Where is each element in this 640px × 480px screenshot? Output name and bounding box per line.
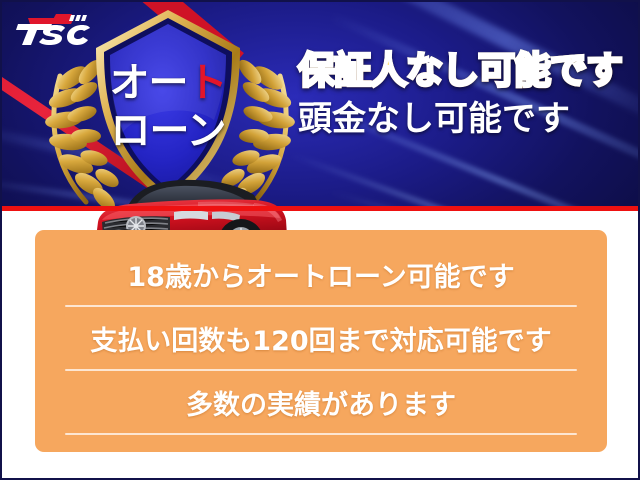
feature-text: 支払い回数も120回まで対応可能です bbox=[90, 319, 551, 358]
feature-text: 多数の実績があります bbox=[186, 383, 456, 422]
light-beam-icon bbox=[290, 152, 638, 208]
headline-primary: 保証人なし可能です bbox=[298, 49, 638, 93]
headline-secondary: 頭金なし可能です bbox=[298, 97, 638, 141]
feature-row: 18歳からオートローン可能です bbox=[61, 246, 581, 302]
feature-separator bbox=[65, 305, 577, 307]
feature-row: 多数の実績があります bbox=[61, 374, 581, 430]
features-panel: 18歳からオートローン可能です 支払い回数も120回まで対応可能です 多数の実績… bbox=[35, 230, 607, 452]
feature-text: 18歳からオートローン可能です bbox=[127, 255, 514, 294]
feature-row: 支払い回数も120回まで対応可能です bbox=[61, 310, 581, 366]
auto-loan-banner: オート ローン bbox=[0, 0, 640, 480]
red-divider-stripe bbox=[2, 206, 638, 211]
headline-block: 保証人なし可能です 頭金なし可能です bbox=[298, 49, 638, 141]
feature-separator bbox=[65, 433, 577, 435]
feature-separator bbox=[65, 369, 577, 371]
